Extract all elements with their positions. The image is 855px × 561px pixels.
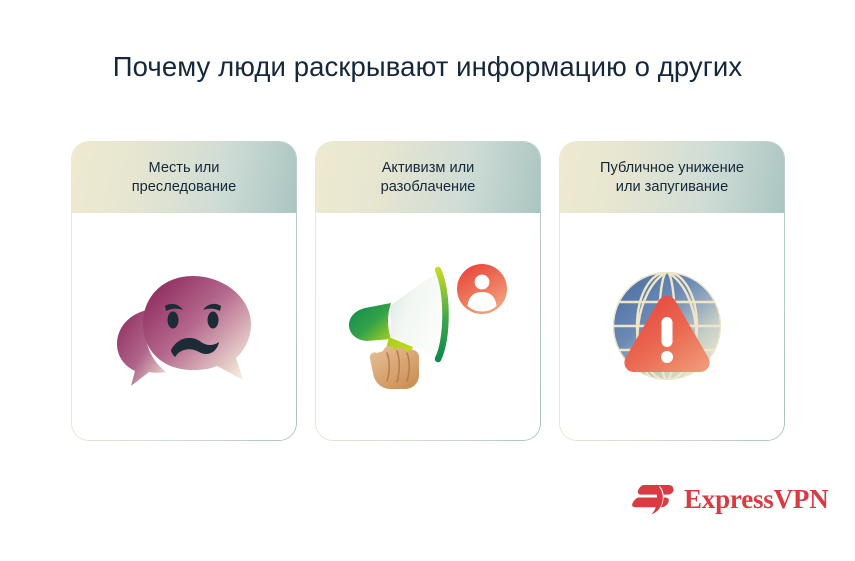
primary-bubble [143, 276, 251, 380]
page-title: Почему люди раскрывают информацию о друг… [0, 50, 855, 84]
card-header-line2: или запугивание [616, 179, 728, 195]
infographic-root: Почему люди раскрывают информацию о друг… [0, 0, 855, 561]
avatar-head [475, 274, 490, 289]
card-header-line2: преследование [132, 179, 236, 195]
card-inner: Месть или преследование [72, 142, 295, 439]
card-body [72, 213, 295, 439]
card-body [560, 213, 783, 439]
megaphone-with-avatar-icon [343, 261, 513, 393]
card-body [316, 213, 539, 439]
exclamation-bar [662, 317, 673, 347]
megaphone-body [349, 303, 391, 341]
cards-row: Месть или преследование [71, 141, 785, 441]
card-header-line1: Публичное унижение [600, 160, 744, 176]
left-eye [168, 311, 179, 328]
card-header: Публичное унижение или запугивание [560, 142, 783, 213]
card-header-line1: Активизм или [382, 160, 475, 176]
card-header-line1: Месть или [149, 160, 220, 176]
card-inner: Активизм или разоблачение [316, 142, 539, 439]
card-header-text: Активизм или разоблачение [371, 159, 486, 197]
brand-wordmark: ExpressVPN [684, 486, 829, 513]
card-public-humiliation-or-intimidation: Публичное унижение или запугивание [559, 141, 785, 441]
card-activism-or-exposure: Активизм или разоблачение [315, 141, 541, 441]
exclamation-dot [661, 351, 673, 363]
expressvpn-e-logo-icon [632, 481, 674, 517]
card-revenge-or-harassment: Месть или преследование [71, 141, 297, 441]
angry-speech-bubble-icon [109, 262, 259, 392]
globe-warning-icon [605, 262, 739, 392]
card-header: Активизм или разоблачение [316, 142, 539, 213]
hand [370, 346, 419, 389]
card-inner: Публичное унижение или запугивание [560, 142, 783, 439]
brand-logo: ExpressVPN [632, 481, 829, 517]
right-eye [208, 311, 219, 328]
card-header: Месть или преследование [72, 142, 295, 213]
card-header-text: Месть или преследование [122, 159, 246, 197]
card-header-text: Публичное унижение или запугивание [590, 159, 754, 197]
card-header-line2: разоблачение [381, 179, 476, 195]
logo-top-bar [638, 485, 674, 495]
